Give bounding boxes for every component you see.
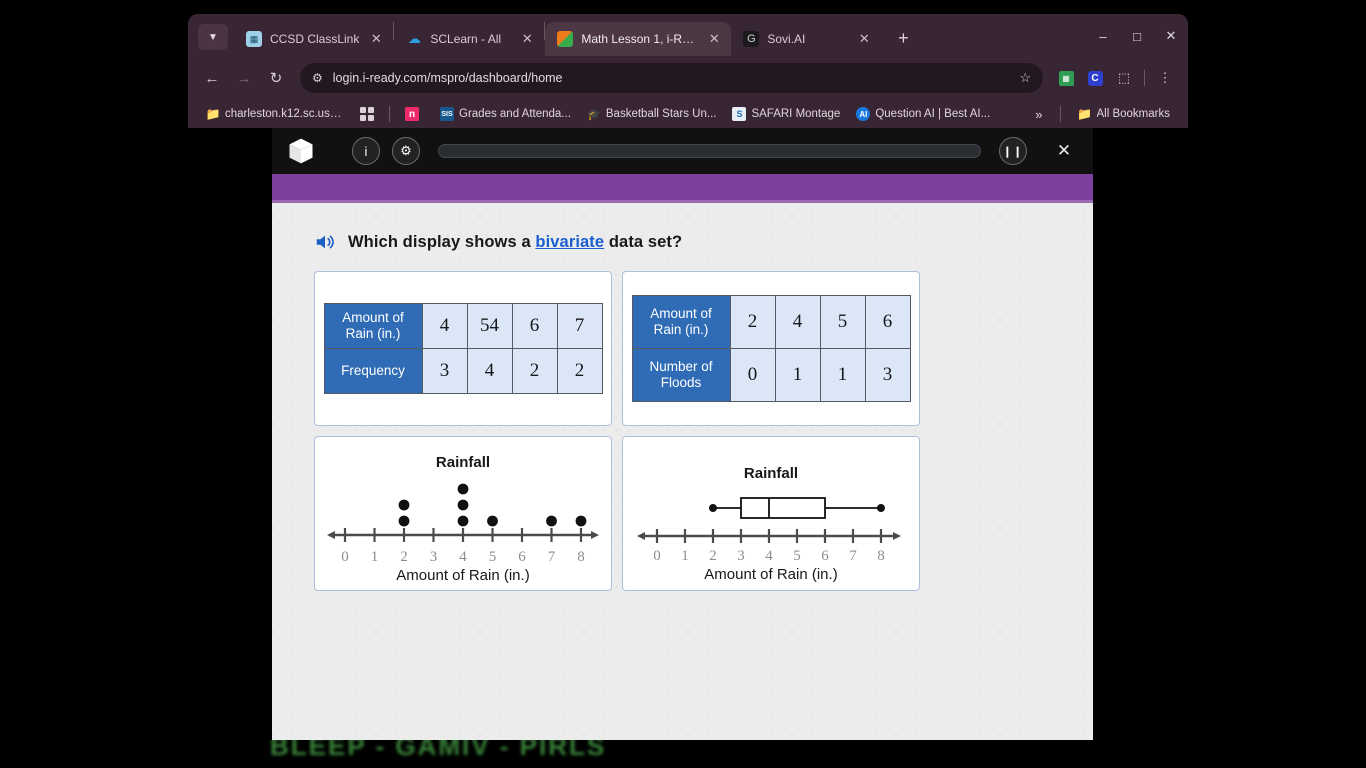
toolbar-divider [1144, 70, 1145, 86]
svg-text:4: 4 [765, 548, 773, 562]
table-cell: 1 [775, 349, 820, 402]
table-cell: 2 [557, 349, 602, 394]
tab-title: SCLearn - All [430, 32, 510, 46]
all-bookmarks-label: All Bookmarks [1097, 108, 1171, 120]
bookmark-divider [389, 106, 390, 122]
info-button[interactable]: i [352, 137, 380, 165]
bookmark-label: charleston.k12.sc.us bookmarks [225, 108, 344, 120]
svg-text:3: 3 [430, 549, 438, 561]
lesson-toolbar: i ⚙ ❙❙ ✕ [272, 128, 1093, 174]
page-viewport: i ⚙ ❙❙ ✕ [188, 128, 1188, 740]
iready-cube-icon [557, 31, 573, 47]
table-cell: 6 [865, 296, 910, 349]
table-cell: 4 [775, 296, 820, 349]
close-icon[interactable]: ✕ [705, 30, 723, 48]
bookmark-safari-montage[interactable]: S SAFARI Montage [726, 104, 846, 124]
browser-window: ▼ ▦ CCSD ClassLink ✕ ☁ SCLearn - All ✕ M… [188, 14, 1188, 740]
header-line-1: Amount of [342, 310, 404, 325]
forward-button[interactable]: → [230, 64, 258, 92]
tab-search-chevron-down-icon[interactable]: ▼ [198, 24, 228, 50]
browser-tab-math-lesson-iready[interactable]: Math Lesson 1, i-Ready ✕ [545, 22, 731, 56]
browser-tab-sclearn[interactable]: ☁ SCLearn - All ✕ [394, 22, 544, 56]
row-header: Amount ofRain (in.) [324, 304, 422, 349]
page-info-icon[interactable]: ⚙ [312, 71, 323, 85]
box-plot: 012345678 [631, 482, 911, 562]
question-prefix: Which display shows a [348, 233, 535, 251]
svg-text:6: 6 [821, 548, 829, 562]
tab-title: Math Lesson 1, i-Ready [581, 32, 697, 46]
header-line-2: Floods [661, 375, 702, 390]
window-close-button[interactable]: ✕ [1154, 22, 1188, 50]
c-extension-icon[interactable]: C [1082, 65, 1108, 91]
svg-text:4: 4 [459, 549, 467, 561]
row-header: Number ofFloods [632, 349, 730, 402]
lesson-progress-bar [438, 144, 981, 158]
address-bar[interactable]: ⚙ login.i-ready.com/mspro/dashboard/home… [300, 63, 1043, 93]
table-cell: 4 [467, 349, 512, 394]
svg-text:7: 7 [548, 549, 556, 561]
table-cell: 3 [865, 349, 910, 402]
table-cell: 0 [730, 349, 775, 402]
chrome-menu-icon[interactable]: ⋮ [1152, 65, 1178, 91]
all-bookmarks-button[interactable]: 📁 All Bookmarks [1072, 104, 1177, 124]
apps-grid-icon [360, 107, 374, 121]
tab-strip: ▼ ▦ CCSD ClassLink ✕ ☁ SCLearn - All ✕ M… [188, 14, 1188, 56]
table-cell: 2 [512, 349, 557, 394]
window-controls: – □ ✕ [1086, 22, 1188, 50]
answer-choice-b[interactable]: Amount ofRain (in.) 2 4 5 6 Number ofFlo… [622, 271, 920, 426]
bookmark-divider [1060, 106, 1061, 122]
header-line-2: Rain (in.) [654, 322, 709, 337]
bookmark-charleston-folder[interactable]: 📁 charleston.k12.sc.us bookmarks [200, 104, 350, 124]
question-suffix: data set? [604, 233, 682, 251]
table-cell: 3 [422, 349, 467, 394]
table-row: Amount ofRain (in.) 4 54 6 7 [324, 304, 602, 349]
letterbox-left [188, 128, 272, 740]
folder-icon: 📁 [1078, 107, 1092, 121]
toolbar-icons: ▦ C ⬚ ⋮ [1053, 65, 1178, 91]
bookmarks-bar: 📁 charleston.k12.sc.us bookmarks n SIS G… [188, 100, 1188, 128]
sovi-icon: G [743, 31, 759, 47]
bookmarks-overflow-button[interactable]: » [1029, 107, 1048, 122]
sis-icon: SIS [440, 107, 454, 121]
svg-text:7: 7 [849, 548, 857, 562]
svg-text:5: 5 [793, 548, 801, 562]
frequency-table: Amount ofRain (in.) 4 54 6 7 Frequency 3 [324, 303, 603, 394]
back-button[interactable]: ← [198, 64, 226, 92]
dot-plot-xlabel: Amount of Rain (in.) [396, 567, 529, 584]
answer-choice-c[interactable]: Rainfall 012345678 Amount of Rain (in.) [314, 436, 612, 591]
answer-choices-grid: Amount ofRain (in.) 4 54 6 7 Frequency 3 [314, 271, 1051, 591]
browser-tab-sovi-ai[interactable]: G Sovi.AI ✕ [731, 22, 881, 56]
row-header: Amount ofRain (in.) [632, 296, 730, 349]
table-cell: 1 [820, 349, 865, 402]
safari-montage-icon: S [732, 107, 746, 121]
close-icon[interactable]: ✕ [855, 30, 873, 48]
svg-text:3: 3 [737, 548, 745, 562]
table-cell: 5 [820, 296, 865, 349]
row-header: Frequency [324, 349, 422, 394]
maximize-button[interactable]: □ [1120, 22, 1154, 50]
bookmark-label: Question AI | Best AI... [875, 108, 990, 120]
dot-plot-title: Rainfall [436, 454, 490, 471]
lesson-content: Which display shows a bivariate data set… [272, 203, 1093, 740]
table-row: Amount ofRain (in.) 2 4 5 6 [632, 296, 910, 349]
minimize-button[interactable]: – [1086, 22, 1120, 50]
answer-choice-a[interactable]: Amount ofRain (in.) 4 54 6 7 Frequency 3 [314, 271, 612, 426]
reload-button[interactable]: ↻ [262, 64, 290, 92]
bookmark-label: Basketball Stars Un... [606, 108, 717, 120]
table-cell: 2 [730, 296, 775, 349]
svg-text:0: 0 [341, 549, 349, 561]
question-row: Which display shows a bivariate data set… [314, 231, 1051, 253]
tab-title: Sovi.AI [767, 32, 847, 46]
svg-text:2: 2 [400, 549, 408, 561]
svg-text:5: 5 [489, 549, 497, 561]
settings-gear-button[interactable]: ⚙ [392, 137, 420, 165]
lesson-accent-band [272, 174, 1093, 200]
close-lesson-button[interactable]: ✕ [1049, 136, 1079, 166]
bookmark-question-ai[interactable]: AI Question AI | Best AI... [850, 104, 996, 124]
close-icon[interactable]: ✕ [518, 30, 536, 48]
letterbox-right [1093, 128, 1188, 740]
bookmark-basketball-stars[interactable]: 🎓 Basketball Stars Un... [581, 104, 723, 124]
bookmark-nearpod[interactable]: n [399, 104, 430, 124]
omnibox-toolbar: ← → ↻ ⚙ login.i-ready.com/mspro/dashboar… [188, 56, 1188, 100]
table-cell: 7 [557, 304, 602, 349]
header-line-1: Number of [649, 359, 712, 374]
screencastify-extension-icon[interactable]: ▦ [1053, 65, 1079, 91]
extensions-puzzle-icon[interactable]: ⬚ [1111, 65, 1137, 91]
bookmark-grades-and-attendance[interactable]: SIS Grades and Attenda... [434, 104, 577, 124]
folder-settings-icon: 📁 [206, 107, 220, 121]
dot-plot: 012345678 [323, 471, 603, 561]
iready-cube-logo [286, 136, 316, 166]
graduation-cap-icon: 🎓 [587, 107, 601, 121]
cloud-icon: ☁ [406, 31, 422, 47]
answer-choice-d[interactable]: Rainfall 012345678 Amount of Rain (in.) [622, 436, 920, 591]
speaker-audio-icon[interactable] [314, 231, 336, 253]
classlink-icon: ▦ [246, 31, 262, 47]
pause-button[interactable]: ❙❙ [999, 137, 1027, 165]
bivariate-glossary-link[interactable]: bivariate [535, 233, 604, 251]
table-cell: 4 [422, 304, 467, 349]
iready-lesson-app: i ⚙ ❙❙ ✕ [272, 128, 1093, 740]
header-line-1: Amount of [650, 306, 712, 321]
bookmark-label: SAFARI Montage [751, 108, 840, 120]
svg-text:2: 2 [709, 548, 717, 562]
svg-text:1: 1 [371, 549, 379, 561]
question-ai-icon: AI [856, 107, 870, 121]
table-cell: 54 [467, 304, 512, 349]
box-plot-xlabel: Amount of Rain (in.) [704, 566, 837, 583]
svg-text:0: 0 [653, 548, 661, 562]
star-icon[interactable]: ☆ [1019, 70, 1031, 86]
box-plot-title: Rainfall [744, 465, 798, 482]
nearpod-icon: n [405, 107, 419, 121]
address-bar-url: login.i-ready.com/mspro/dashboard/home [333, 71, 563, 85]
bookmark-apps-grid[interactable] [354, 104, 380, 124]
browser-tab-ccsd-classlink[interactable]: ▦ CCSD ClassLink ✕ [234, 22, 393, 56]
table-row: Number ofFloods 0 1 1 3 [632, 349, 910, 402]
new-tab-button[interactable]: + [889, 24, 917, 52]
svg-text:8: 8 [577, 549, 585, 561]
header-line-2: Rain (in.) [346, 326, 401, 341]
close-icon[interactable]: ✕ [367, 30, 385, 48]
tab-title: CCSD ClassLink [270, 32, 359, 46]
svg-text:8: 8 [877, 548, 885, 562]
svg-text:1: 1 [681, 548, 689, 562]
bivariate-table: Amount ofRain (in.) 2 4 5 6 Number ofFlo… [632, 295, 911, 402]
question-text: Which display shows a bivariate data set… [348, 233, 682, 252]
table-row: Frequency 3 4 2 2 [324, 349, 602, 394]
bookmarks-overflow-area: » 📁 All Bookmarks [1029, 104, 1176, 124]
bookmark-label: Grades and Attenda... [459, 108, 571, 120]
table-cell: 6 [512, 304, 557, 349]
svg-text:6: 6 [518, 549, 526, 561]
